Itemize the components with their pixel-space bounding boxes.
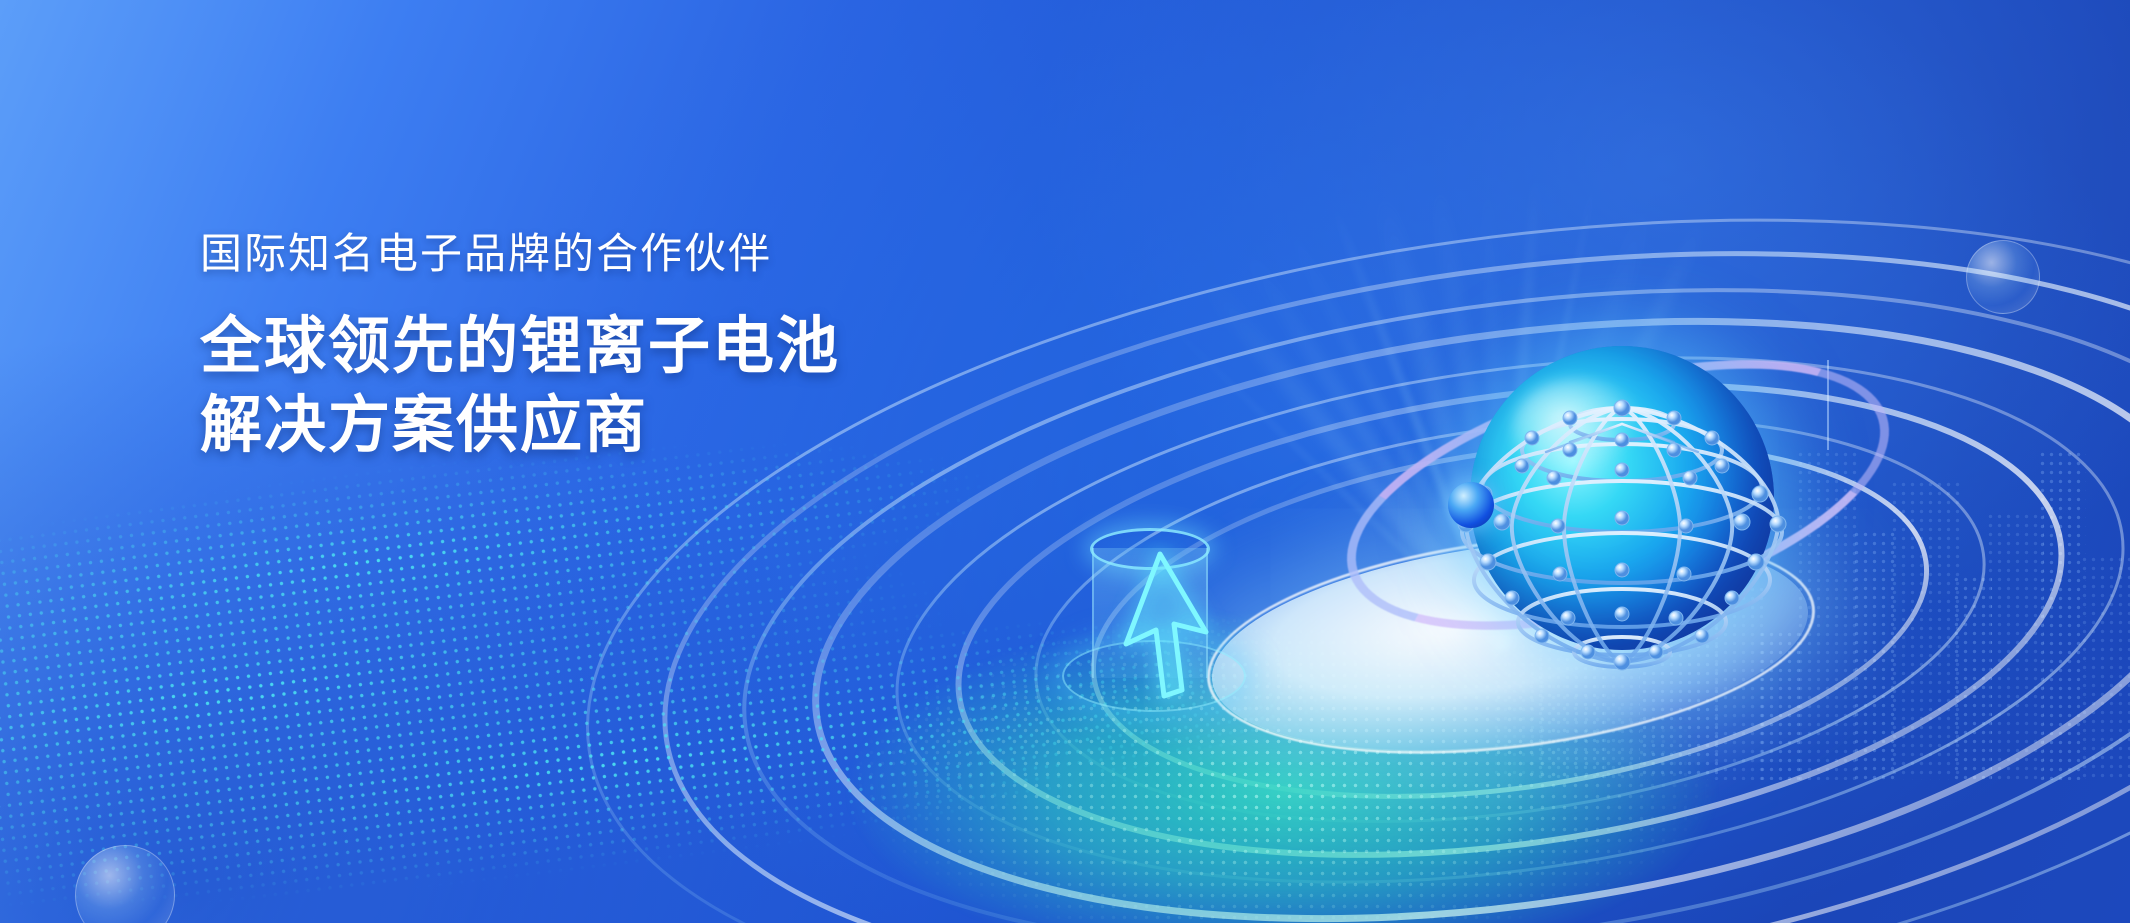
- globe-wireframe-mesh: [1442, 318, 1802, 678]
- wireframe-globe: [1442, 318, 1802, 678]
- bubble-bottom-left: [75, 845, 175, 923]
- skyline-building: [2038, 450, 2086, 780]
- skyline-building: [1852, 530, 1896, 780]
- banner-headline: 全球领先的锂离子电池 解决方案供应商: [200, 307, 840, 466]
- bubble-top-right: [1966, 240, 2040, 314]
- skyline-building: [1712, 585, 1766, 780]
- orbit-node-sphere: [1448, 482, 1494, 528]
- skyline-spire: [1827, 360, 1829, 450]
- upward-arrow-icon: [1112, 540, 1232, 710]
- teal-halftone-dots: [800, 560, 1950, 923]
- headline-line-2: 解决方案供应商: [200, 386, 840, 465]
- hologram-cylinder: [1092, 548, 1208, 678]
- dotted-city-skyline: [1490, 360, 2130, 780]
- globe-highlight: [1512, 378, 1642, 478]
- skyline-building: [1890, 480, 1960, 780]
- cylinder-base-ring: [1062, 640, 1246, 712]
- banner-eyebrow: 国际知名电子品牌的合作伙伴: [200, 228, 840, 281]
- skyline-building: [1758, 630, 1804, 780]
- skyline-building: [1640, 525, 1718, 780]
- hero-banner: 国际知名电子品牌的合作伙伴 全球领先的锂离子电池 解决方案供应商: [0, 0, 2130, 923]
- skyline-building: [1986, 512, 2044, 780]
- skyline-building: [1796, 450, 1858, 780]
- disc-rim: [1195, 503, 1828, 784]
- skyline-building: [1492, 480, 1544, 780]
- orbit-ring: [1317, 307, 1919, 682]
- cylinder-top-ring: [1090, 528, 1210, 570]
- headline-line-1: 全球领先的锂离子电池: [200, 307, 840, 386]
- banner-copy: 国际知名电子品牌的合作伙伴 全球领先的锂离子电池 解决方案供应商: [200, 228, 840, 465]
- skyline-building: [2080, 555, 2130, 780]
- skyline-building: [1952, 575, 1992, 780]
- skyline-building: [1536, 565, 1604, 780]
- skyline-spire: [1518, 410, 1520, 480]
- light-rays: [1041, 0, 1880, 700]
- glowing-disc-platform: [1200, 509, 1820, 781]
- globe-core-sphere: [1470, 346, 1774, 650]
- skyline-building: [1600, 610, 1640, 780]
- teal-glow-field: [820, 560, 1920, 923]
